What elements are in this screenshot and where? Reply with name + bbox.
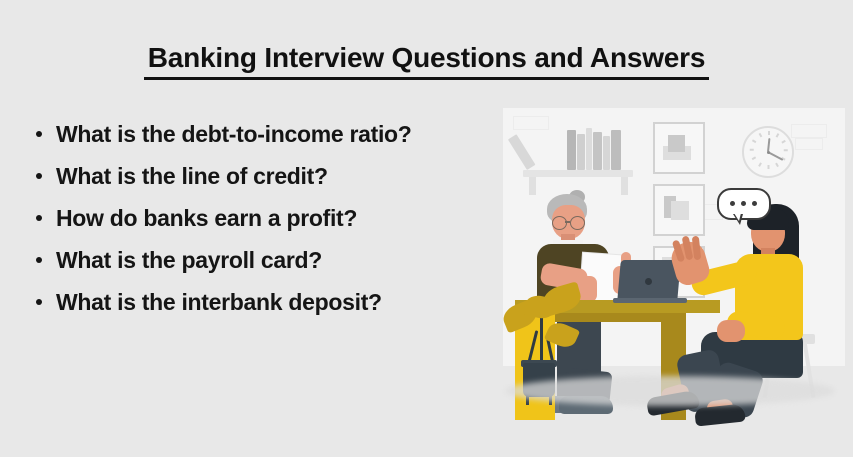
bullet-dot-icon — [36, 215, 42, 221]
floor-shadow — [505, 376, 835, 406]
page-title-text: Banking Interview Questions and Answers — [144, 42, 710, 80]
slide-canvas: Banking Interview Questions and Answers … — [0, 0, 853, 457]
wall-sketch-rect — [795, 138, 823, 150]
list-item-label: What is the line of credit? — [56, 163, 328, 189]
bullet-dot-icon — [36, 173, 42, 179]
page-title: Banking Interview Questions and Answers — [0, 42, 853, 80]
laptop-logo-icon — [645, 278, 652, 285]
picture-frame-top — [653, 122, 705, 174]
interviewee-shoe-back — [694, 403, 746, 426]
shelf-leg — [529, 177, 536, 195]
wall-sketch-rect — [791, 124, 827, 138]
list-item: What is the debt-to-income ratio? — [30, 120, 500, 149]
list-item-label: What is the interbank deposit? — [56, 289, 382, 315]
glasses-icon — [570, 216, 585, 230]
bullet-dot-icon — [36, 257, 42, 263]
glasses-icon — [552, 216, 567, 230]
question-list: What is the debt-to-income ratio? What i… — [30, 120, 500, 330]
glasses-bridge — [565, 221, 570, 223]
list-item-label: How do banks earn a profit? — [56, 205, 357, 231]
shelf-books — [523, 126, 633, 170]
bullet-dot-icon — [36, 299, 42, 305]
job-interview-illustration — [495, 108, 853, 418]
wall-shelf — [523, 170, 633, 177]
list-item-label: What is the payroll card? — [56, 247, 322, 273]
laptop-base — [613, 298, 687, 303]
speech-bubble-icon — [717, 188, 771, 220]
wall-clock-icon — [742, 126, 794, 178]
interviewee-hand-resting — [717, 320, 745, 342]
list-item-label: What is the debt-to-income ratio? — [56, 121, 412, 147]
list-item: What is the interbank deposit? — [30, 288, 500, 317]
list-item: What is the payroll card? — [30, 246, 500, 275]
picture-frame-middle — [653, 184, 705, 236]
shelf-leg — [621, 177, 628, 195]
list-item: What is the line of credit? — [30, 162, 500, 191]
list-item: How do banks earn a profit? — [30, 204, 500, 233]
bullet-dot-icon — [36, 131, 42, 137]
